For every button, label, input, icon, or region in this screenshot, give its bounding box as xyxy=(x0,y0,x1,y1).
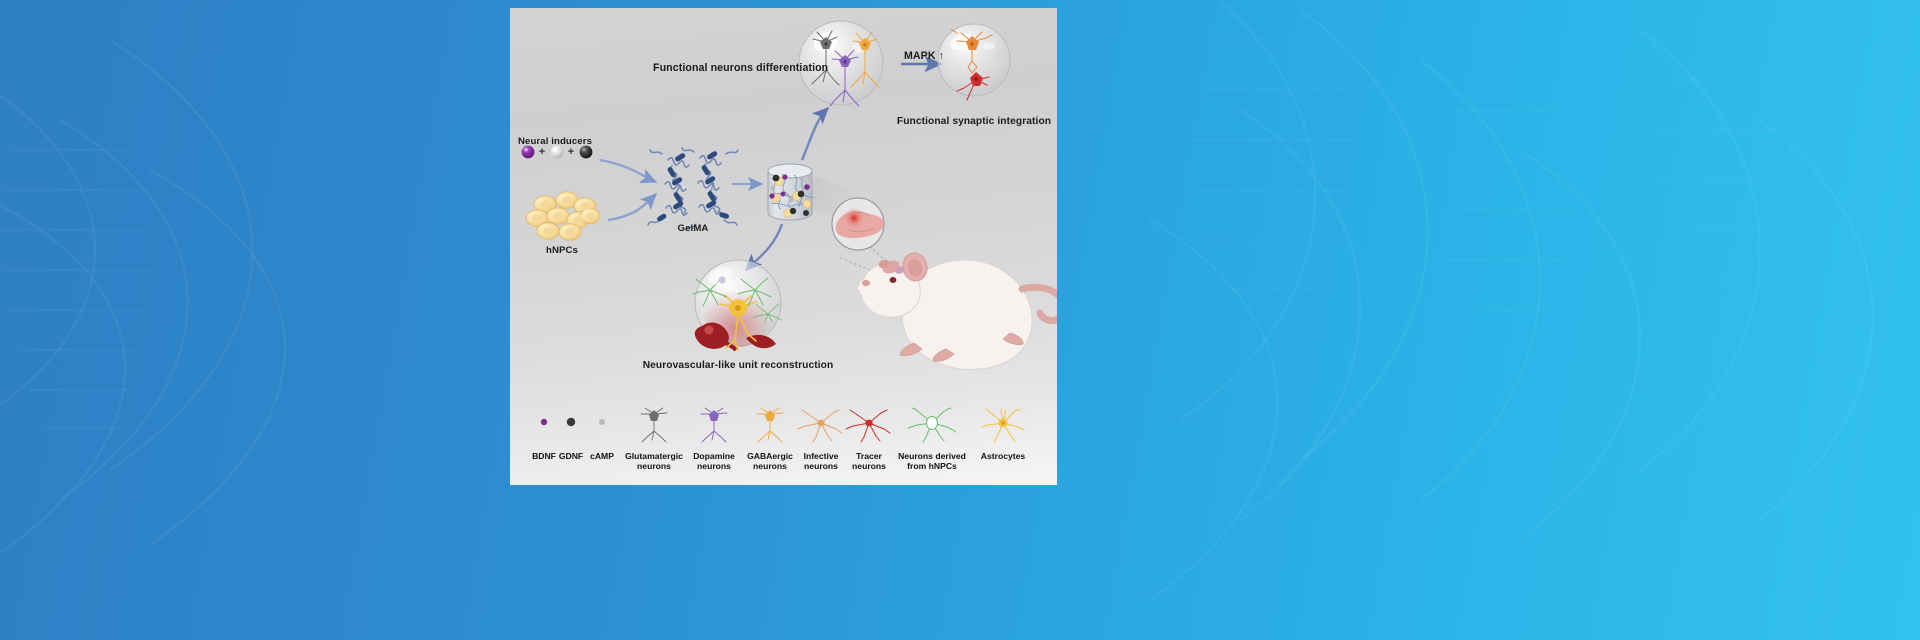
label-gelma: GelMA xyxy=(678,224,709,235)
arrow-to-gelma xyxy=(600,160,656,220)
legend-camp: cAMP xyxy=(590,451,614,461)
label-plus-1: + xyxy=(539,146,546,158)
arrow-to-differentiation xyxy=(802,108,828,160)
legend-tracer: Tracer neurons xyxy=(852,451,886,472)
legend-glutamatergic: Glutamatergic neurons xyxy=(625,451,683,472)
legend-infective: Infective neurons xyxy=(804,451,839,472)
label-functional-neurons-differentiation: Functional neurons differentiation xyxy=(653,63,828,75)
legend-gdnf: GDNF xyxy=(559,451,583,461)
legend-glyph-camp xyxy=(599,419,605,425)
label-plus-2: + xyxy=(568,146,575,158)
label-hnpcs: hNPCs xyxy=(546,246,578,257)
legend-bdnf: BDNF xyxy=(532,451,556,461)
neurosphere-integration xyxy=(938,24,1010,100)
legend-gabaergic: GABAergic neurons xyxy=(747,451,793,472)
label-mapk: MAPK ↑ xyxy=(904,51,944,63)
legend: BDNF GDNF cAMP Glutamatergic neurons Dop… xyxy=(510,408,1057,485)
hnpc-cell-cluster xyxy=(526,192,600,240)
neurosphere-neurovascular xyxy=(693,260,782,350)
legend-glyphs xyxy=(510,408,1057,454)
label-neurovascular-unit: Neurovascular-like unit reconstruction xyxy=(643,360,834,371)
legend-dopamine: Dopamine neurons xyxy=(693,451,735,472)
legend-astrocytes: Astrocytes xyxy=(981,451,1025,461)
rat-model xyxy=(832,198,1057,370)
label-neural-inducers: Neural inducers xyxy=(518,137,592,148)
legend-hnpc-derived: Neurons derived from hNPCs xyxy=(898,451,966,472)
schematic-panel: Functional neurons differentiation Funct… xyxy=(510,8,1057,485)
legend-glyph-bdnf xyxy=(541,419,547,425)
label-functional-synaptic-integration: Functional synaptic integration xyxy=(897,116,1051,127)
legend-glyph-gdnf xyxy=(567,418,575,426)
